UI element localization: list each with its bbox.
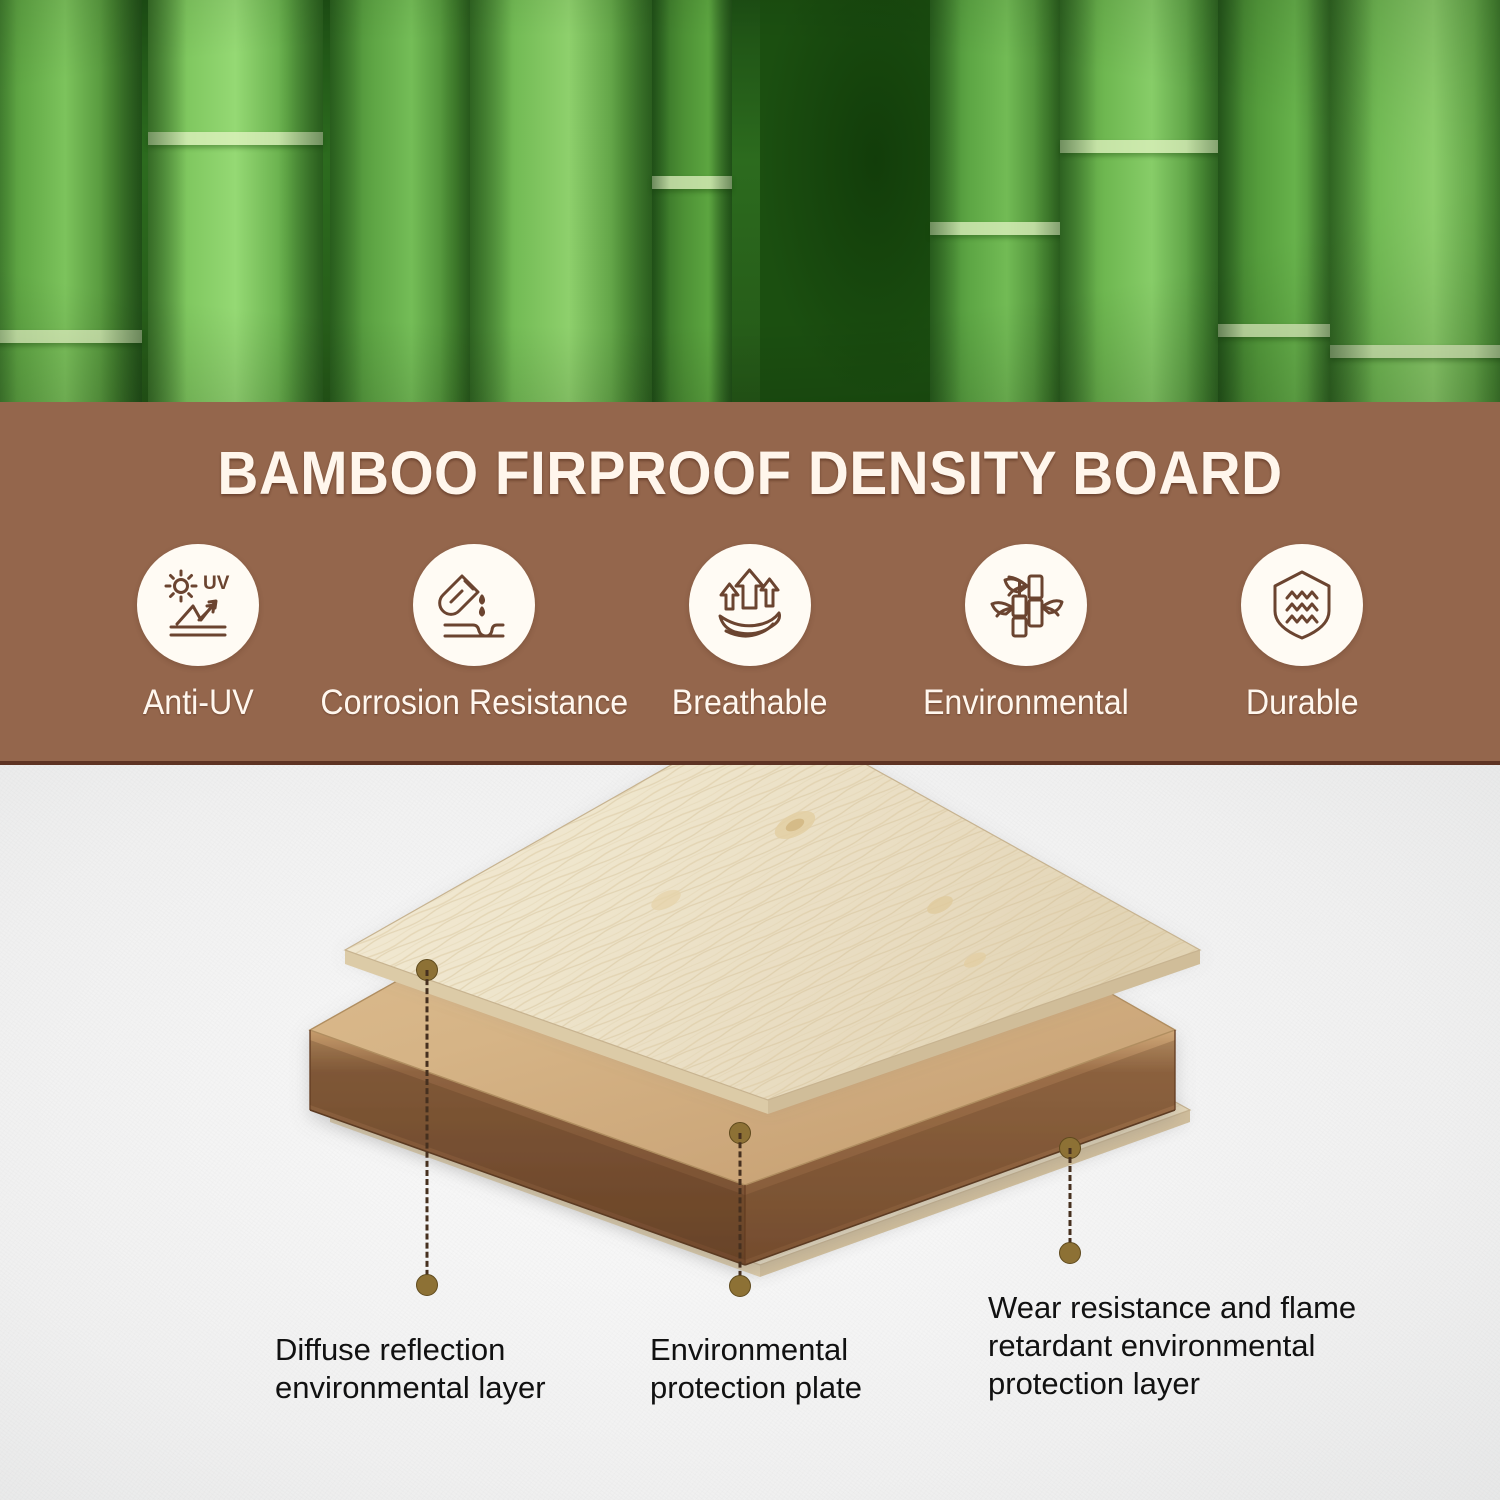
callout-dot-diffuse-reflection-end xyxy=(416,1274,438,1296)
feature-band: BAMBOO FIRPROOF DENSITY BOARD xyxy=(0,402,1500,765)
breathable-icon xyxy=(707,562,793,648)
leader-line-diffuse-reflection xyxy=(426,970,429,1285)
callout-label-wear-flame-retardant: Wear resistance and flame retardant envi… xyxy=(988,1289,1388,1402)
feature-label: Durable xyxy=(1246,683,1359,723)
callout-dot-environmental-plate-end xyxy=(729,1275,751,1297)
corrosion-resistance-badge xyxy=(413,544,535,666)
bamboo-culm xyxy=(470,0,660,402)
layer-diagram-panel: Diffuse reflection environmental layer E… xyxy=(0,765,1500,1500)
page-title: BAMBOO FIRPROOF DENSITY BOARD xyxy=(53,438,1448,508)
bamboo-culm xyxy=(1218,0,1338,402)
bamboo-culm xyxy=(148,0,323,402)
callout-label-environmental-plate: Environmental protection plate xyxy=(650,1331,960,1407)
bamboo-culm xyxy=(930,0,1070,402)
bamboo-culm xyxy=(652,0,732,402)
leader-line-wear-flame-retardant xyxy=(1069,1148,1072,1253)
feature-label: Breathable xyxy=(672,683,828,723)
anti-uv-badge: UV xyxy=(137,544,259,666)
bamboo-culm xyxy=(330,0,478,402)
bamboo-culm xyxy=(1060,0,1230,402)
feature-item-breathable[interactable]: Breathable xyxy=(612,544,888,723)
feature-item-environmental[interactable]: Environmental xyxy=(888,544,1164,723)
feature-item-anti-uv[interactable]: UV Anti-UV xyxy=(60,544,336,723)
feature-label: Anti-UV xyxy=(143,683,254,723)
bamboo-grove-photo xyxy=(0,0,1500,402)
bamboo-culm xyxy=(0,0,142,402)
durable-badge xyxy=(1241,544,1363,666)
durable-shield-icon xyxy=(1259,562,1345,648)
environmental-bamboo-icon xyxy=(983,562,1069,648)
svg-text:UV: UV xyxy=(203,573,230,594)
feature-item-corrosion-resistance[interactable]: Corrosion Resistance xyxy=(336,544,612,723)
feature-item-durable[interactable]: Durable xyxy=(1164,544,1440,723)
environmental-badge xyxy=(965,544,1087,666)
callout-label-diffuse-reflection: Diffuse reflection environmental layer xyxy=(275,1331,605,1407)
bamboo-culm xyxy=(1330,0,1500,402)
callout-dot-wear-flame-retardant-end xyxy=(1059,1242,1081,1264)
product-infographic: BAMBOO FIRPROOF DENSITY BOARD xyxy=(0,0,1500,1500)
corrosion-resistance-icon xyxy=(431,562,517,648)
leader-line-environmental-plate xyxy=(739,1133,742,1286)
feature-label: Corrosion Resistance xyxy=(320,683,628,723)
feature-label: Environmental xyxy=(923,683,1129,723)
anti-uv-icon: UV xyxy=(155,562,241,648)
feature-list: UV Anti-UV xyxy=(60,544,1440,723)
breathable-badge xyxy=(689,544,811,666)
